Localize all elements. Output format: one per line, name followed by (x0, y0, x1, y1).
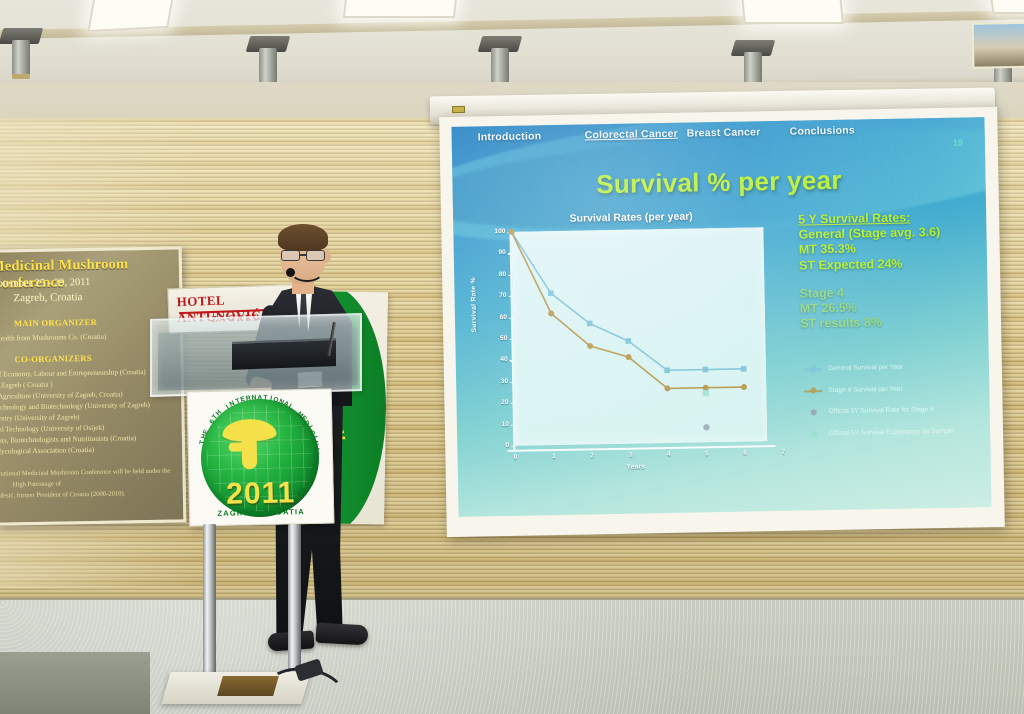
chart-data-point (741, 384, 747, 390)
chart-reference-point (703, 424, 710, 431)
poster-co-organizer: Faculty of Agriculture (University of Za… (0, 390, 123, 401)
poster-main-organizer: – Health from Mushrooms Co. (Croatia) (0, 333, 106, 343)
chart-series-layer (471, 209, 796, 480)
legend-label: Official 5Y Survival Rate for Stage 4 (829, 406, 934, 415)
legend-swatch (811, 409, 817, 415)
chart-reference-point (703, 390, 710, 397)
legend-label: Stage 4 Survival per Year (828, 385, 903, 393)
conference-room-photo: Medicinal Mushroom Conference September … (0, 0, 1024, 714)
speaker-shoe-right (316, 623, 369, 646)
legend-marker (810, 387, 816, 393)
poster-co-organizer: Faculty of Food Technology (University o… (0, 424, 104, 435)
slide-side-panel: 5 Y Survival Rates: General (Stage avg. … (798, 209, 985, 332)
chart-data-point (587, 321, 593, 327)
ceiling-downlight (487, 44, 513, 84)
podium-logo-sign: THE 6TH INTERNATIONAL MEDICINAL MUSHROOM… (187, 388, 335, 526)
slide-nav-colorectal-cancer: Colorectal Cancer (585, 128, 678, 142)
legend-marker (810, 366, 816, 372)
floor-lower-step (0, 652, 150, 714)
chart-legend: General Survival per YearStage 4 Surviva… (804, 362, 981, 451)
chart-data-point (625, 338, 631, 344)
headset-microphone-boom (290, 260, 324, 282)
poster-footer-line: High Patronage of (13, 481, 61, 489)
slide-number: 19 (953, 138, 963, 148)
slide-nav-conclusions: Conclusions (790, 125, 855, 138)
legend-swatch (804, 390, 822, 392)
slide-nav-introduction: Introduction (478, 130, 542, 143)
screen-housing-label (452, 106, 465, 113)
ceiling-panel-light (87, 0, 176, 32)
headset-microphone-capsule (286, 268, 295, 277)
poster-co-organizer: City of Zagreb ( Croatia ) (0, 381, 53, 390)
poster-footer-line: Mr. Stjepan Mesić, former President of C… (0, 490, 125, 500)
poster-main-organizer-heading: MAIN ORGANIZER (14, 317, 97, 328)
legend-label: General Survival per Year (828, 364, 903, 372)
ceiling-panel-light (987, 0, 1024, 14)
poster-co-organizer: Croatian Mycological Association (Croati… (0, 446, 94, 456)
floor-carpet (0, 600, 1024, 714)
legend-swatch (804, 368, 822, 370)
chart-line-circle (511, 228, 744, 392)
chart-data-point (703, 367, 709, 373)
chart-data-point (664, 367, 670, 373)
side-panel-line: ST results 8% (800, 313, 985, 332)
poster-hotel-photo (972, 21, 1024, 69)
poster-co-organizer: Faculty of Forestry (University of Zagre… (0, 413, 80, 423)
podium-leg (203, 524, 216, 680)
legend-item: Stage 4 Survival per Year (804, 384, 979, 396)
ceiling-downlight (255, 44, 281, 84)
ceiling-panel-light (343, 0, 459, 18)
legend-item: Official 5Y Survival Expectancy for Samp… (805, 427, 980, 439)
poster-co-organizer: Ministry of Economy, Labour and Entrepre… (0, 368, 146, 379)
poster-co-organizer: Society of Mycologists, Biotechnologists… (0, 434, 136, 445)
chart-line-square (511, 228, 743, 373)
presentation-slide: Introduction Colorectal Cancer Breast Ca… (451, 117, 991, 517)
poster-co-organizers-heading: CO-ORGANIZERS (14, 353, 92, 364)
poster-city: Zagreb, Croatia (13, 291, 82, 304)
poster-co-organizer: Faculty of Food Technology and Biotechno… (0, 401, 150, 413)
chart-data-point (548, 290, 554, 296)
speaker-hair (278, 224, 328, 251)
ceiling-panel-light (740, 0, 843, 24)
slide-nav-breast-cancer: Breast Cancer (687, 126, 761, 139)
laptop (232, 338, 336, 370)
legend-label: Official 5Y Survival Expectancy for Samp… (829, 427, 954, 436)
legend-swatch (811, 431, 817, 437)
ceiling-downlight (8, 36, 34, 76)
legend-item: Official 5Y Survival Rate for Stage 4 (805, 405, 980, 417)
survival-rates-chart: Survival Rates (per year) 01020304050607… (471, 209, 796, 480)
podium-leg (288, 524, 301, 680)
poster-footer-line: The 6th International Medicinal Mushroom… (0, 468, 170, 479)
legend-item: General Survival per Year (804, 362, 979, 374)
chart-data-point (741, 366, 747, 372)
